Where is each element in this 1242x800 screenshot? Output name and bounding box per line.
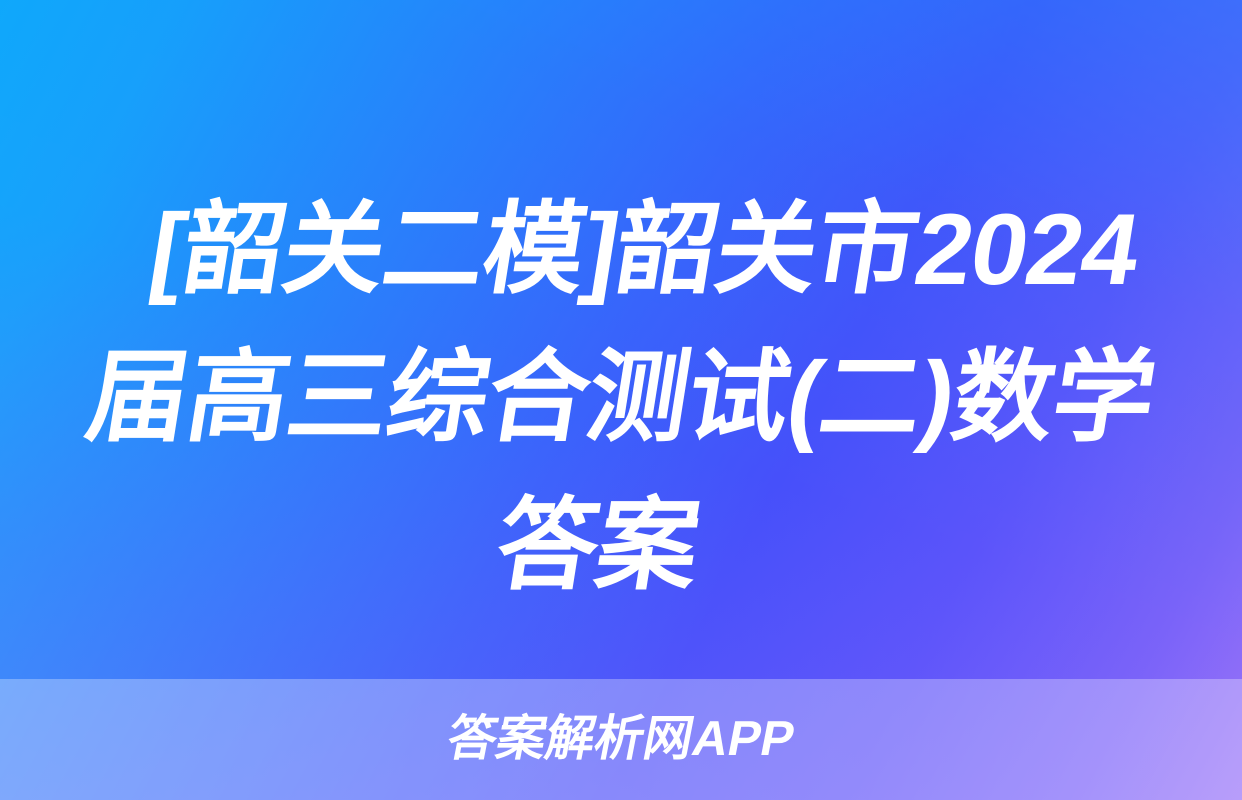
poster-title-block: [韶关二模]韶关市2024 届高三综合测试(二)数学 答案 bbox=[0, 176, 1242, 620]
page-title: [韶关二模]韶关市2024 届高三综合测试(二)数学 答案 bbox=[29, 176, 1213, 620]
app-brand-label: 答案解析网APP bbox=[443, 715, 798, 764]
promo-poster: [韶关二模]韶关市2024 届高三综合测试(二)数学 答案 答案解析网APP bbox=[0, 0, 1242, 800]
footer-brand-band: 答案解析网APP bbox=[0, 679, 1242, 800]
